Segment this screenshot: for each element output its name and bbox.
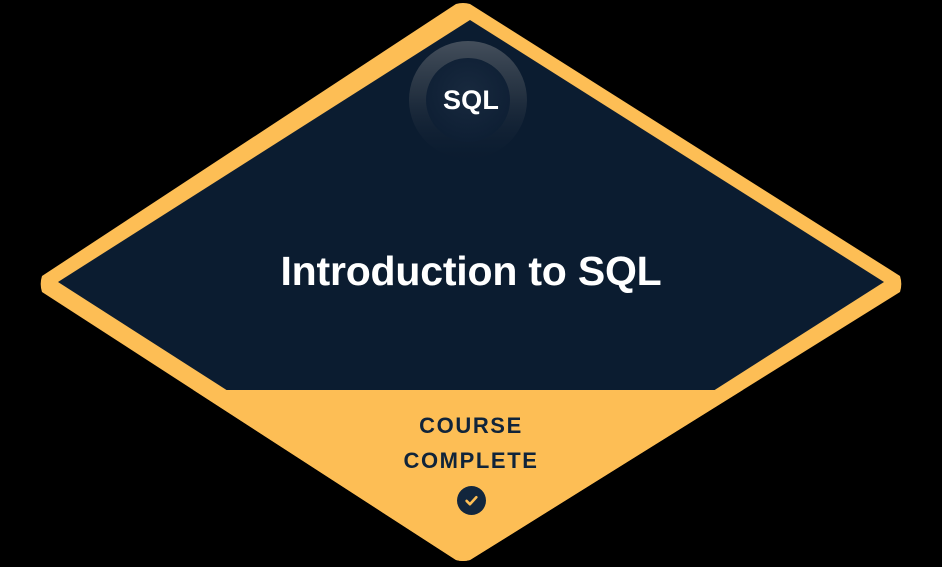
badge-diamond-graphic [0, 0, 942, 567]
sql-chip-graphic [409, 41, 527, 159]
completion-check-badge [457, 486, 486, 515]
course-completion-badge: SQL Introduction to SQL COURSE COMPLETE [0, 0, 942, 567]
check-mark-icon [463, 492, 480, 509]
